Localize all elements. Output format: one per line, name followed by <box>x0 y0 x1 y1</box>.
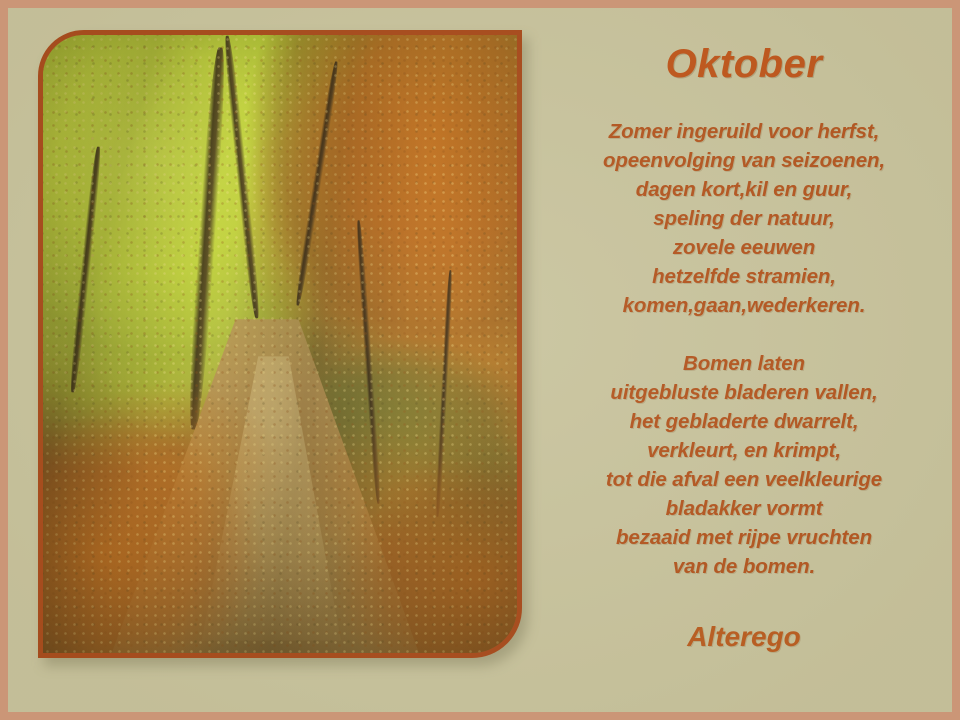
photo-container <box>38 30 522 658</box>
slide-canvas: Oktober Zomer ingeruild voor herfst, ope… <box>0 0 960 720</box>
poem-line: uitgebluste bladeren vallen, <box>528 378 960 407</box>
photo-vignette <box>43 35 517 653</box>
poem-line: zovele eeuwen <box>528 233 960 262</box>
poem-line: verkleurt, en krimpt, <box>528 436 960 465</box>
poem-stanza-1: Zomer ingeruild voor herfst, opeenvolgin… <box>528 117 960 320</box>
poem-line: dagen kort,kil en guur, <box>528 175 960 204</box>
poem-line: hetzelfde stramien, <box>528 262 960 291</box>
poem-stanza-2: Bomen laten uitgebluste bladeren vallen,… <box>528 349 960 581</box>
poem-line: het gebladerte dwarrelt, <box>528 407 960 436</box>
poem-line: Zomer ingeruild voor herfst, <box>528 117 960 146</box>
poem-line: van de bomen. <box>528 552 960 581</box>
poem-signature: Alterego <box>528 621 960 653</box>
poem-line: bladakker vormt <box>528 494 960 523</box>
poem-line: tot die afval een veelkleurige <box>528 465 960 494</box>
poem-line: speling der natuur, <box>528 204 960 233</box>
poem-column: Oktober Zomer ingeruild voor herfst, ope… <box>528 8 960 720</box>
poem-title: Oktober <box>528 42 960 87</box>
autumn-forest-path-photo <box>43 35 517 653</box>
poem-line: opeenvolging van seizoenen, <box>528 146 960 175</box>
photo-frame <box>38 30 522 658</box>
poem-line: komen,gaan,wederkeren. <box>528 291 960 320</box>
poem-line: Bomen laten <box>528 349 960 378</box>
poem-line: bezaaid met rijpe vruchten <box>528 523 960 552</box>
